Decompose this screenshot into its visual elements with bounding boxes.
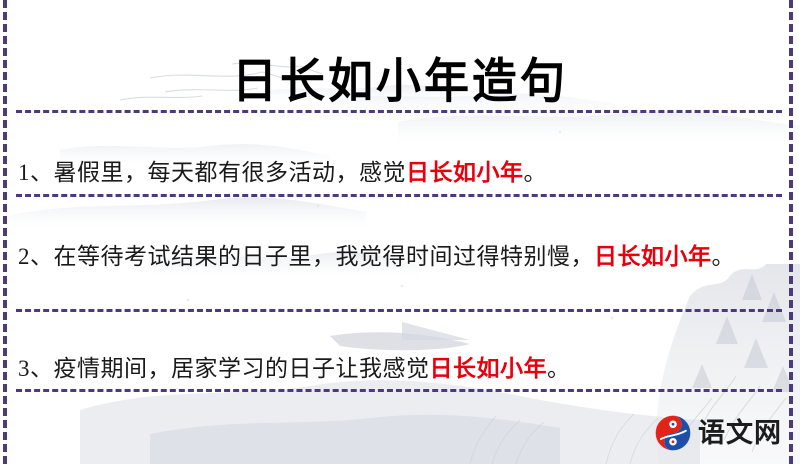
sentence-2-text-before: 2、在等待考试结果的日子里，我觉得时间过得特别慢， — [18, 244, 594, 269]
sentence-2-keyword: 日长如小年 — [594, 244, 712, 269]
sentence-3-text-after: 。 — [547, 356, 571, 381]
page-title: 日长如小年造句 — [232, 56, 568, 106]
site-logo[interactable]: 语文网 — [654, 414, 782, 452]
sentence-item-1: 1、暑假里，每天都有很多活动，感觉日长如小年。 — [18, 153, 780, 193]
sentence-item-2: 2、在等待考试结果的日子里，我觉得时间过得特别慢，日长如小年。 — [18, 237, 780, 277]
sentence-2-text-after: 。 — [712, 244, 736, 269]
sentence-1-text-after: 。 — [524, 160, 548, 185]
sentence-1-keyword: 日长如小年 — [406, 160, 524, 185]
title-block: 日长如小年造句 — [0, 26, 800, 134]
sentence-item-3: 3、疫情期间，居家学习的日子让我感觉日长如小年。 — [18, 349, 780, 389]
right-dashed-border — [789, 0, 793, 464]
page-content: 日长如小年造句 1、暑假里，每天都有很多活动，感觉日长如小年。 2、在等待考试结… — [0, 0, 800, 464]
left-dashed-border — [3, 0, 7, 464]
sentence-1-text-before: 1、暑假里，每天都有很多活动，感觉 — [18, 160, 406, 185]
worksheet-page: 日长如小年造句 1、暑假里，每天都有很多活动，感觉日长如小年。 2、在等待考试结… — [0, 0, 800, 464]
yin-yang-fish-circle-icon — [654, 414, 692, 452]
site-logo-text: 语文网 — [698, 420, 782, 447]
sentence-3-keyword: 日长如小年 — [430, 356, 548, 381]
sentence-3-text-before: 3、疫情期间，居家学习的日子让我感觉 — [18, 356, 430, 381]
